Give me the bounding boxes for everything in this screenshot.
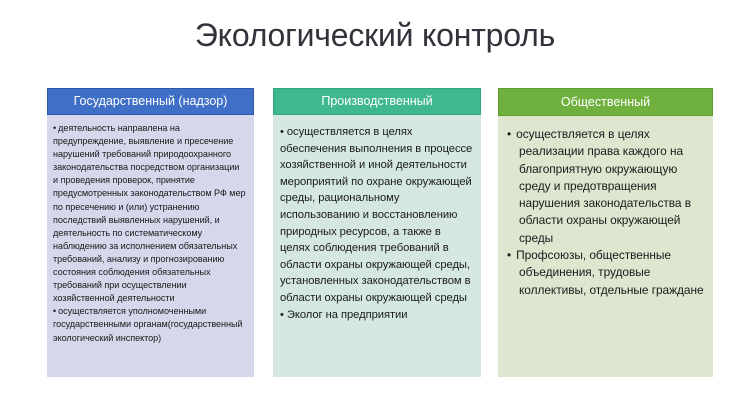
- column-header-production: Производственный: [273, 88, 481, 115]
- list-item: •осуществляется в целях обеспечения выпо…: [280, 124, 473, 307]
- list-item-text: Эколог на предприятии: [287, 309, 408, 321]
- bullet-icon: •: [507, 248, 511, 262]
- list-item: •осуществляется в целях реализации права…: [507, 126, 705, 247]
- bullet-icon: •: [280, 309, 284, 321]
- bullet-icon: •: [53, 123, 56, 133]
- list-item-text: деятельность направлена на предупреждени…: [53, 123, 246, 303]
- column-header-public: Общественный: [498, 88, 713, 116]
- list-item-text: осуществляется уполномоченными государст…: [53, 306, 243, 342]
- bullet-list-production: •осуществляется в целях обеспечения выпо…: [280, 124, 473, 323]
- control-types-columns: Государственный (надзор) •деятельность н…: [47, 88, 713, 378]
- column-state-control: Государственный (надзор) •деятельность н…: [47, 88, 254, 377]
- list-item-text: осуществляется в целях обеспечения выпол…: [280, 126, 472, 304]
- page-title: Экологический контроль: [0, 17, 750, 54]
- bullet-icon: •: [280, 126, 284, 138]
- list-item: •Эколог на предприятии: [280, 307, 473, 324]
- bullet-icon: •: [53, 306, 56, 316]
- column-public-control: Общественный •осуществляется в целях реа…: [498, 88, 713, 377]
- slide-root: Экологический контроль Государственный (…: [0, 0, 750, 420]
- column-header-state: Государственный (надзор): [47, 88, 254, 115]
- column-body-production: •осуществляется в целях обеспечения выпо…: [273, 115, 481, 377]
- list-item: •осуществляется уполномоченными государс…: [53, 305, 246, 344]
- list-item-text: осуществляется в целях реализации права …: [516, 127, 691, 245]
- column-body-state: •деятельность направлена на предупрежден…: [47, 115, 254, 377]
- list-item: •деятельность направлена на предупрежден…: [53, 122, 246, 305]
- bullet-list-public: •осуществляется в целях реализации права…: [507, 126, 705, 299]
- bullet-icon: •: [507, 127, 511, 141]
- column-production-control: Производственный •осуществляется в целях…: [273, 88, 481, 377]
- bullet-list-state: •деятельность направлена на предупрежден…: [53, 122, 246, 345]
- column-body-public: •осуществляется в целях реализации права…: [498, 116, 713, 377]
- list-item-text: Профсоюзы, общественные объединения, тру…: [516, 248, 703, 297]
- list-item: •Профсоюзы, общественные объединения, тр…: [507, 247, 705, 299]
